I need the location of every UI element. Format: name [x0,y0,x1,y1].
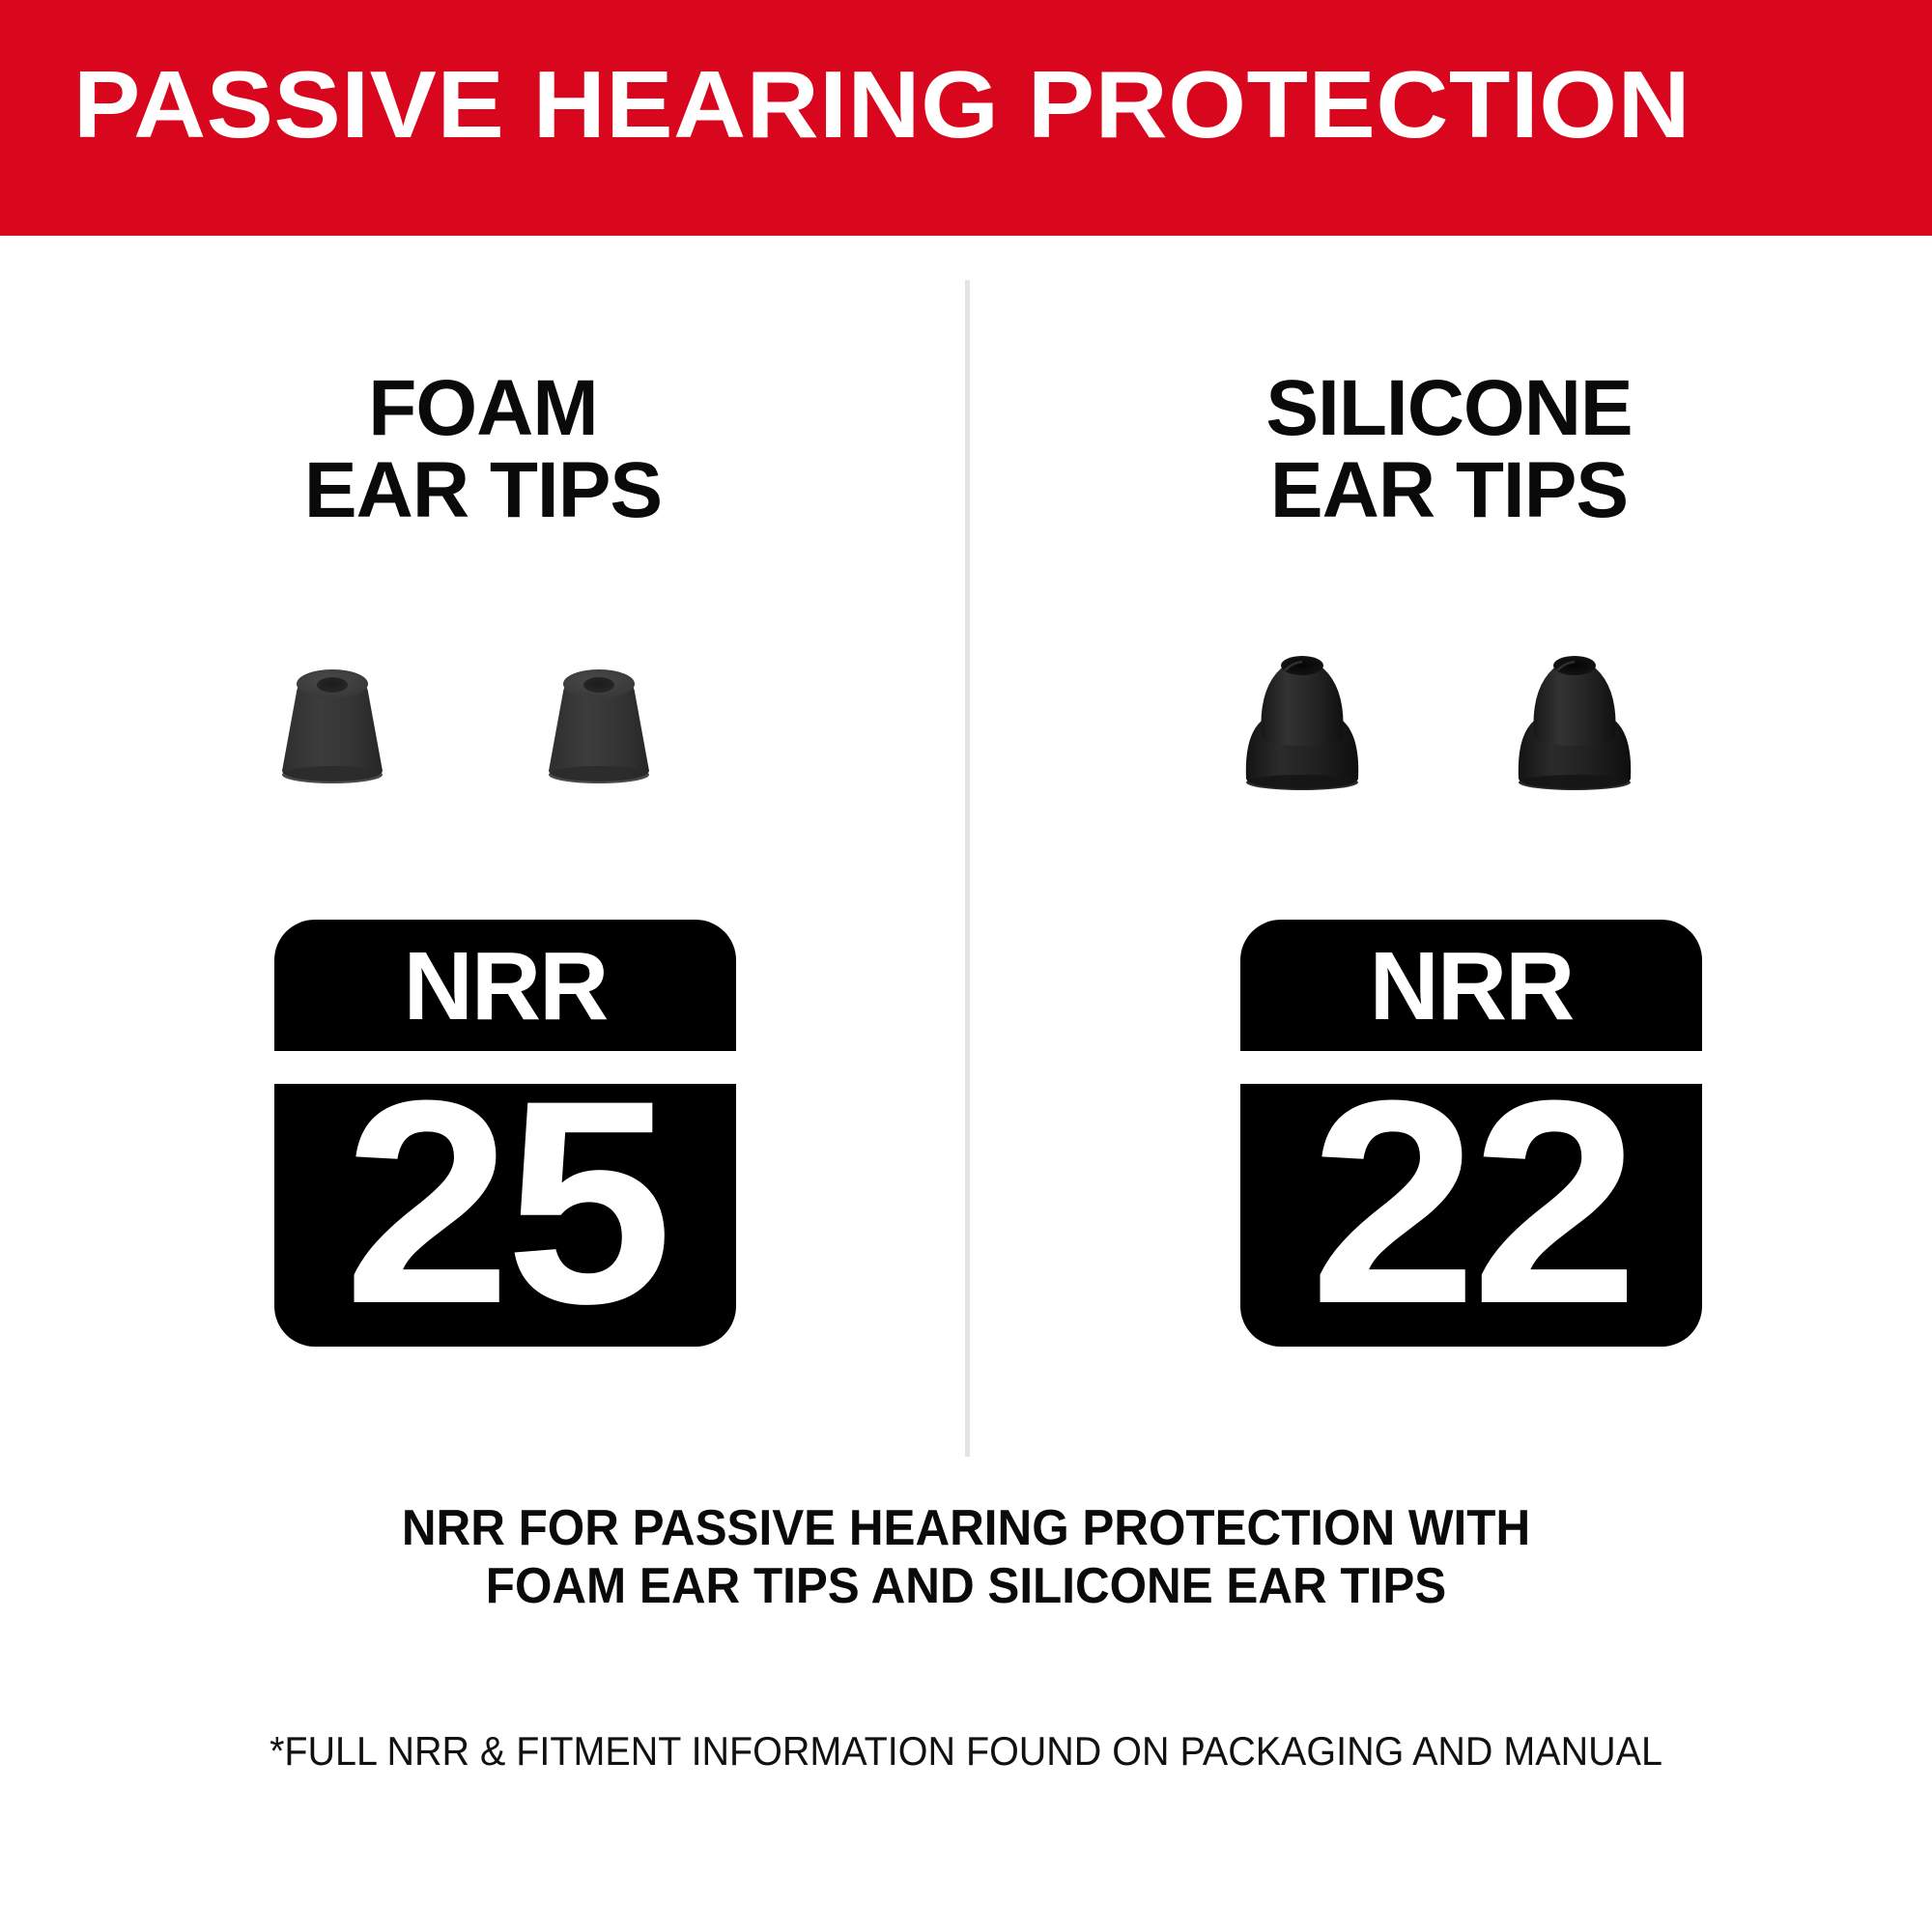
caption-line2: FOAM EAR TIPS AND SILICONE EAR TIPS [48,1557,1884,1615]
nrr-badge-foam-bottom: 25 [274,1084,736,1347]
silicone-ear-tips-images [966,622,1932,835]
caption: NRR FOR PASSIVE HEARING PROTECTION WITH … [48,1499,1884,1615]
panel-foam-title-line2: EAR TIPS [0,449,966,531]
panel-foam-title: FOAM EAR TIPS [0,367,966,531]
caption-line1: NRR FOR PASSIVE HEARING PROTECTION WITH [402,1500,1530,1556]
foam-ear-tip-icon [531,649,667,804]
header-banner: PASSIVE HEARING PROTECTION [0,0,1932,236]
comparison-section: FOAM EAR TIPS [0,236,1932,1932]
nrr-badge-foam-label: NRR [274,936,736,1037]
foam-ear-tips-images [0,622,966,835]
panel-foam-title-line1: FOAM [368,364,597,452]
panel-silicone-title-line1: SILICONE [1265,364,1632,452]
panel-silicone-title: SILICONE EAR TIPS [966,367,1932,531]
nrr-badge-silicone-top: NRR [1240,920,1702,1051]
foam-ear-tip-icon [265,649,400,804]
nrr-badge-silicone-label: NRR [1240,936,1702,1037]
nrr-badge-foam-top: NRR [274,920,736,1051]
panel-silicone: SILICONE EAR TIPS [966,236,1932,1482]
nrr-badge-foam-value: 25 [265,1057,745,1347]
nrr-badge-silicone-bottom: 22 [1240,1084,1702,1347]
footnote: *FULL NRR & FITMENT INFORMATION FOUND ON… [58,1728,1874,1775]
nrr-badge-silicone: NRR 22 [1240,920,1702,1347]
silicone-ear-tip-icon [1235,636,1370,790]
silicone-ear-tip-icon [1507,636,1642,790]
nrr-badge-foam: NRR 25 [274,920,736,1347]
nrr-badge-silicone-value: 22 [1231,1057,1711,1347]
panel-silicone-title-line2: EAR TIPS [966,449,1932,531]
page-title: PASSIVE HEARING PROTECTION [73,54,1690,155]
panel-foam: FOAM EAR TIPS [0,236,966,1482]
